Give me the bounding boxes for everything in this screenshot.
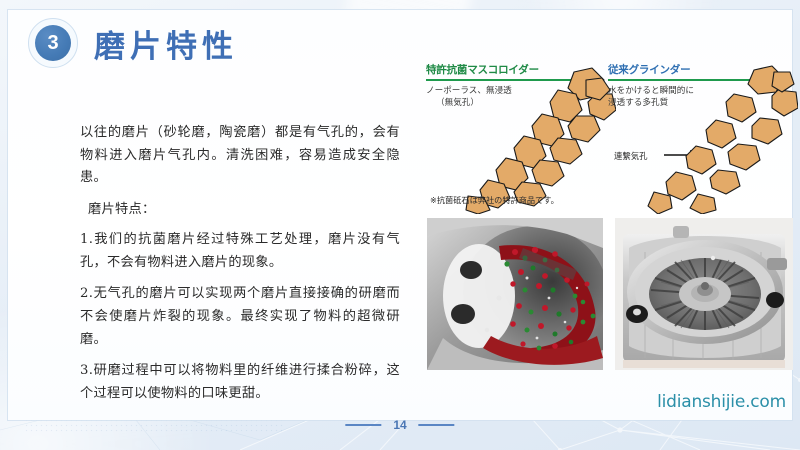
slide: 3 磨片特性 以往的磨片（砂轮磨，陶瓷磨）都是有气孔的，会有物料进入磨片气孔内。… <box>0 0 800 450</box>
slide-header: 3 磨片特性 <box>28 18 238 68</box>
photo-grinding-chamber-image <box>427 218 603 370</box>
pager-rule-left <box>345 424 381 426</box>
photo-grinding-disc-image <box>615 218 793 370</box>
section-number-badge: 3 <box>28 18 78 68</box>
body-text-column: 以往的磨片（砂轮磨，陶瓷磨）都是有气孔的，会有物料进入磨片气孔内。清洗困难，容易… <box>80 122 400 415</box>
page-number: 14 <box>393 418 406 432</box>
watermark-url: lidianshijie.com <box>657 392 786 412</box>
grain-diagram-nonporous <box>446 64 616 214</box>
pager-rule-right <box>419 424 455 426</box>
diagram-panel-conventional: 従来グラインダー 水をかけると瞬間的に 浸透する多孔質 連繋気孔 <box>608 62 794 214</box>
grain-diagram-porous <box>628 64 798 214</box>
feature-item-1: 1.我们的抗菌磨片经过特殊工艺处理，磨片没有气孔，不会有物料进入磨片的现象。 <box>80 229 400 274</box>
badge-number: 3 <box>35 25 71 61</box>
diagram-footnote: ※抗菌砥石は弊社の特許商品です。 <box>430 194 559 206</box>
slide-footer: lidianshijie.com 14 <box>0 414 800 444</box>
features-subheading: 磨片特点： <box>80 199 400 222</box>
feature-item-2: 2.无气孔的磨片可以实现两个磨片直接接确的研磨而不会使磨片炸裂的现象。最终实现了… <box>80 283 400 351</box>
intro-paragraph: 以往的磨片（砂轮磨，陶瓷磨）都是有气孔的，会有物料进入磨片气孔内。清洗困难，容易… <box>80 122 400 190</box>
photo-grinding-disc <box>615 218 793 370</box>
content-card: 3 磨片特性 以往的磨片（砂轮磨，陶瓷磨）都是有气孔的，会有物料进入磨片气孔内。… <box>8 10 792 420</box>
page-indicator: 14 <box>345 418 454 432</box>
feature-item-3: 3.研磨过程中可以将物料里的纤维进行揉合粉碎，这个过程可以使物料的口味更甜。 <box>80 360 400 405</box>
photo-grinding-chamber <box>427 218 603 370</box>
grain-structure-diagram: 特許抗菌マスコロイダー ノーポーラス、無浸透 （無気孔） <box>426 62 798 214</box>
diagram-panel-patented: 特許抗菌マスコロイダー ノーポーラス、無浸透 （無気孔） <box>426 62 612 214</box>
page-title: 磨片特性 <box>94 21 238 66</box>
